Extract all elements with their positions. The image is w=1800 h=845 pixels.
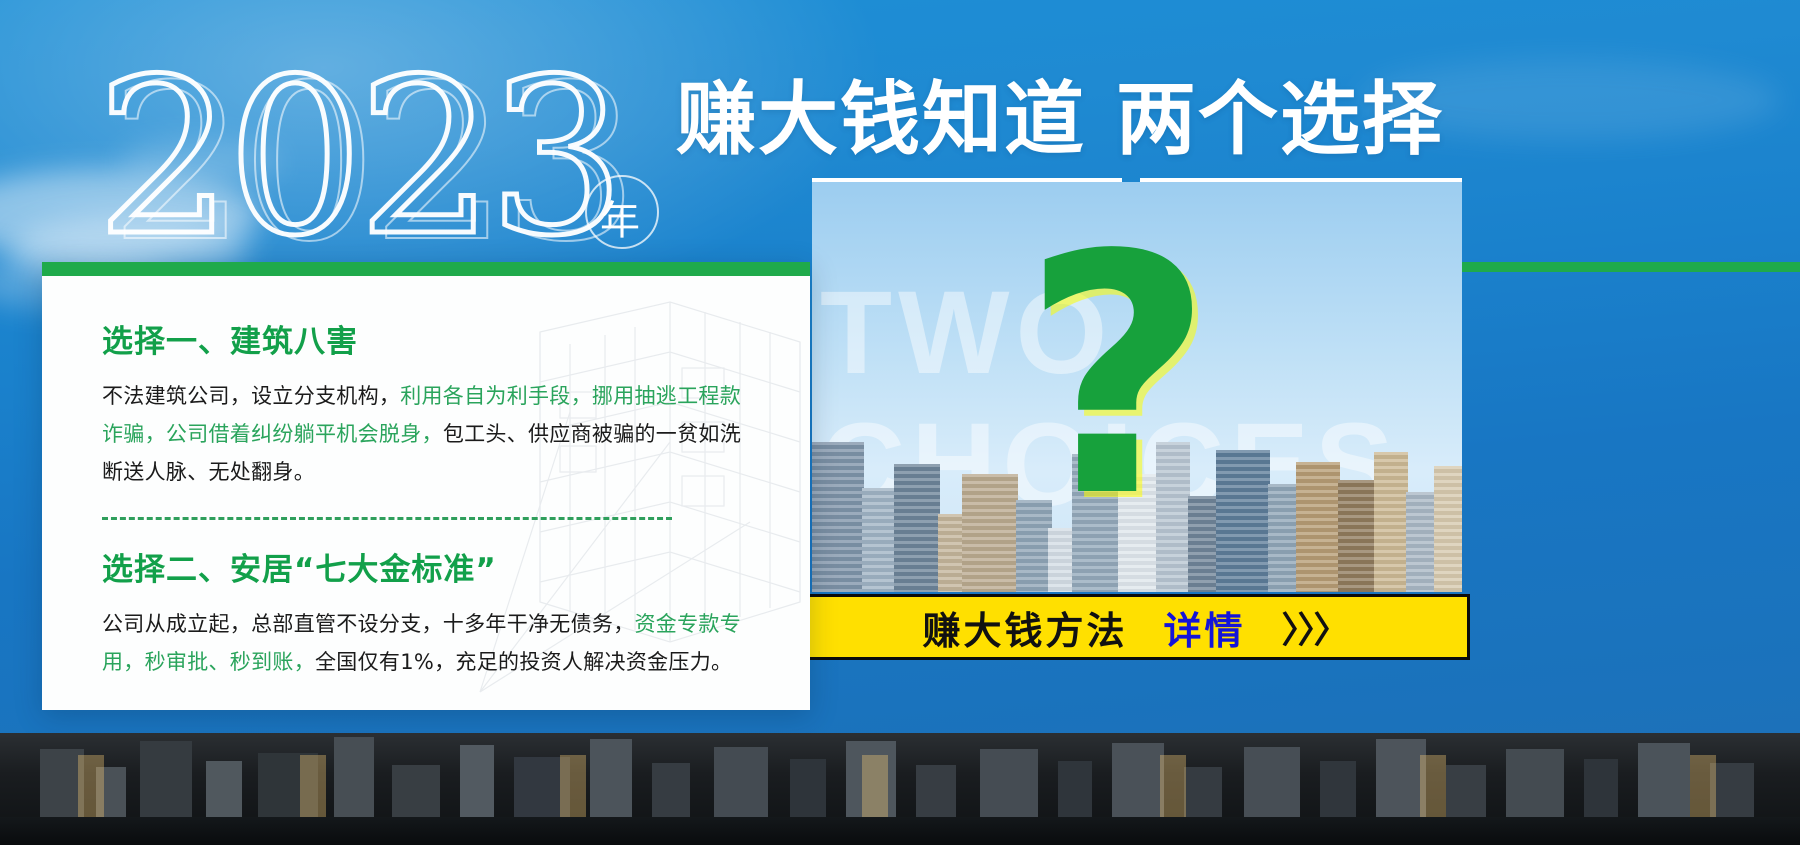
section-body-one: 不法建筑公司，设立分支机构，利用各自为利手段，挪用抽逃工程款诈骗，公司借着纠纷躺… — [102, 377, 752, 491]
cta-banner[interactable]: 赚大钱方法 详情 〉〉〉 — [800, 594, 1470, 660]
page-title: 赚大钱知道 两个选择 — [676, 72, 1444, 168]
cta-detail-link[interactable]: 详情 — [1163, 600, 1245, 655]
water-reflection — [0, 817, 1800, 845]
section-divider — [102, 517, 672, 520]
section-title-two: 选择二、安居“七大金标准” — [102, 544, 752, 589]
cta-main-label: 赚大钱方法 — [922, 600, 1127, 655]
content-card: 选择一、建筑八害 不法建筑公司，设立分支机构，利用各自为利手段，挪用抽逃工程款诈… — [42, 262, 810, 710]
body-part: 不法建筑公司，设立分支机构， — [102, 384, 400, 408]
bottom-photo-strip — [0, 733, 1800, 845]
year-ghost-outline: 2023 — [110, 64, 633, 264]
body-part: 公司从成立起，总部直管不设分支，十多年干净无债务， — [102, 612, 635, 636]
body-part: 全国仅有1%，充足的投资人解决资金压力。 — [315, 650, 732, 674]
green-accent-strip — [1462, 262, 1800, 272]
poster-canvas: 2023 2023 年 赚大钱知道 两个选择 TWO CHOICES — [0, 0, 1800, 845]
question-mark-icon: ? — [1022, 212, 1213, 542]
section-body-two: 公司从成立起，总部直管不设分支，十多年干净无债务，资金专款专用，秒审批、秒到账，… — [102, 605, 752, 681]
year-suffix-label: 年 — [600, 188, 640, 246]
chevron-right-icon: 〉〉〉 — [1282, 601, 1348, 653]
section-title-one: 选择一、建筑八害 — [102, 316, 752, 361]
